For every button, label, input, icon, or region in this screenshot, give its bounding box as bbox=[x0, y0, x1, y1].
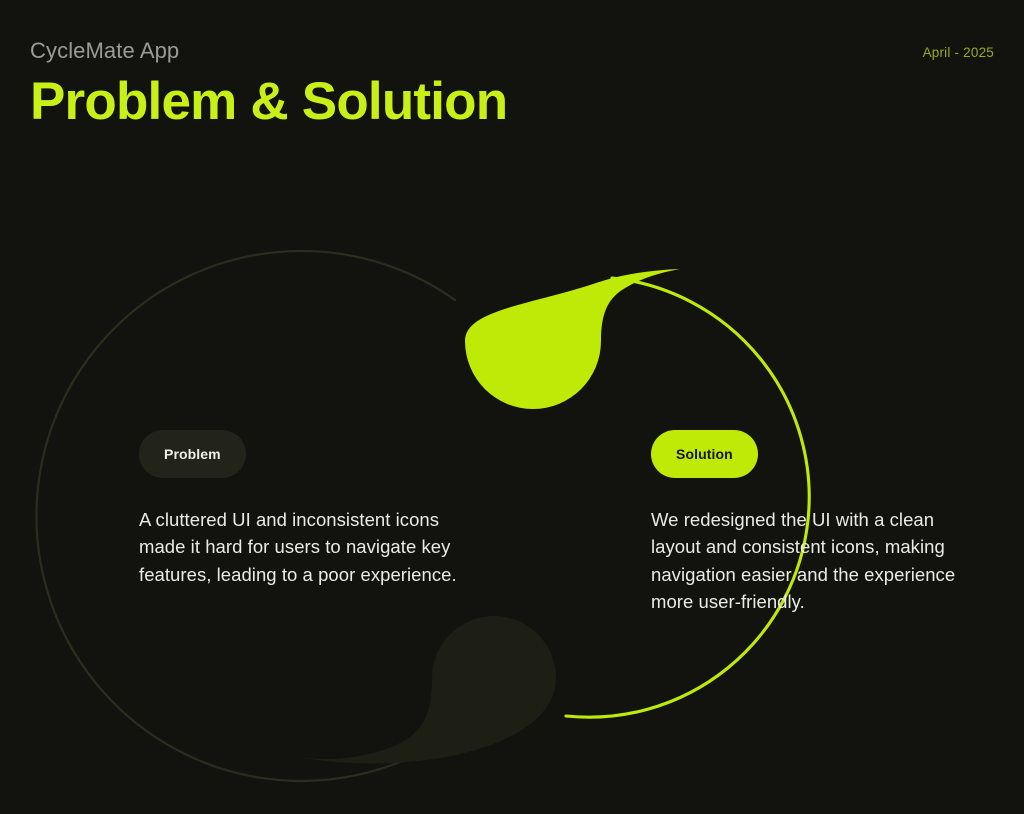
status-badge-problem: Problem bbox=[139, 430, 246, 478]
column-problem: Problem A cluttered UI and inconsistent … bbox=[139, 430, 469, 588]
page-title: Problem & Solution bbox=[30, 74, 507, 130]
problem-description: A cluttered UI and inconsistent icons ma… bbox=[139, 506, 459, 588]
solution-description: We redesigned the UI with a clean layout… bbox=[651, 506, 971, 616]
lime-teardrop-shape bbox=[465, 269, 680, 409]
column-solution: Solution We redesigned the UI with a cle… bbox=[651, 430, 981, 616]
dark-teardrop-shape bbox=[300, 616, 556, 764]
slide-header: CycleMate App Problem & Solution bbox=[30, 38, 507, 130]
slide-canvas: CycleMate App Problem & Solution April -… bbox=[0, 0, 1024, 814]
project-name: CycleMate App bbox=[30, 38, 507, 64]
date-label: April - 2025 bbox=[923, 45, 994, 60]
status-badge-solution: Solution bbox=[651, 430, 758, 478]
